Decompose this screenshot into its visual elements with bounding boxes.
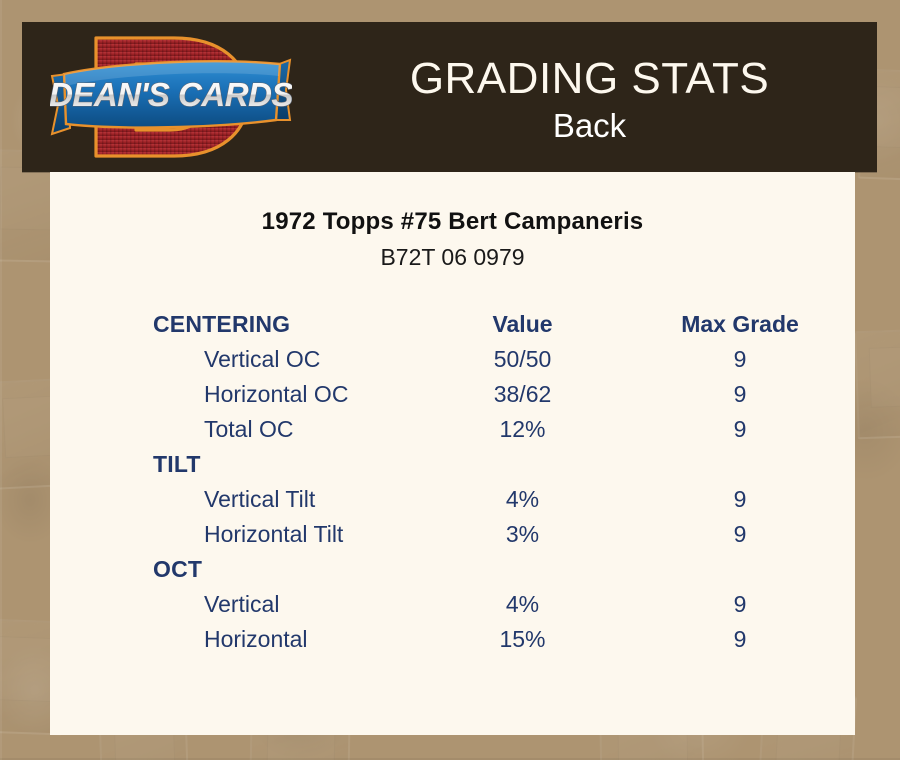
- section-label: TILT: [50, 447, 420, 482]
- stat-value: 38/62: [420, 377, 625, 412]
- stat-max-grade: 9: [625, 342, 855, 377]
- section-label: CENTERING: [50, 307, 420, 342]
- stat-value: 50/50: [420, 342, 625, 377]
- header-bar: DEAN'S CARDS GRADING STATS Back: [22, 22, 877, 172]
- stat-value: 15%: [420, 622, 625, 657]
- deans-cards-logo-icon: DEAN'S CARDS: [50, 24, 292, 170]
- stat-max-grade: 9: [625, 622, 855, 657]
- stat-label: Total OC: [50, 412, 420, 447]
- stat-value: 4%: [420, 587, 625, 622]
- stat-max-grade: 9: [625, 482, 855, 517]
- deans-cards-logo[interactable]: DEAN'S CARDS: [50, 24, 292, 170]
- grading-stats-table: CENTERINGValueMax GradeVertical OC50/509…: [50, 307, 855, 657]
- column-header-max-grade: Max Grade: [625, 307, 855, 342]
- card-serial-number: B72T 06 0979: [50, 244, 855, 271]
- header-title-block: GRADING STATS Back: [302, 22, 877, 172]
- stat-label: Vertical OC: [50, 342, 420, 377]
- section-header-row: OCT: [50, 552, 855, 587]
- stat-max-grade: 9: [625, 587, 855, 622]
- stat-value: 3%: [420, 517, 625, 552]
- section-header-row: CENTERINGValueMax Grade: [50, 307, 855, 342]
- stat-value: 4%: [420, 482, 625, 517]
- section-header-row: TILT: [50, 447, 855, 482]
- stat-label: Vertical Tilt: [50, 482, 420, 517]
- column-header-value: Value: [420, 307, 625, 342]
- stat-label: Horizontal OC: [50, 377, 420, 412]
- table-row: Total OC12%9: [50, 412, 855, 447]
- table-row: Vertical Tilt4%9: [50, 482, 855, 517]
- stat-max-grade: 9: [625, 412, 855, 447]
- page-title: GRADING STATS: [410, 54, 769, 104]
- page-subtitle: Back: [553, 106, 626, 146]
- stat-label: Vertical: [50, 587, 420, 622]
- stat-value: 12%: [420, 412, 625, 447]
- table-row: Vertical4%9: [50, 587, 855, 622]
- table-row: Horizontal OC38/629: [50, 377, 855, 412]
- table-row: Vertical OC50/509: [50, 342, 855, 377]
- logo-ribbon-text: DEAN'S CARDS: [50, 76, 292, 113]
- table-row: Horizontal15%9: [50, 622, 855, 657]
- grading-stats-page: DEAN'S CARDS GRADING STATS Back 1972 Top…: [0, 0, 900, 760]
- section-label: OCT: [50, 552, 420, 587]
- stat-max-grade: 9: [625, 517, 855, 552]
- stat-max-grade: 9: [625, 377, 855, 412]
- stat-label: Horizontal: [50, 622, 420, 657]
- table-row: Horizontal Tilt3%9: [50, 517, 855, 552]
- stat-label: Horizontal Tilt: [50, 517, 420, 552]
- grading-stats-body: CENTERINGValueMax GradeVertical OC50/509…: [50, 307, 855, 657]
- content-panel: 1972 Topps #75 Bert Campaneris B72T 06 0…: [50, 172, 855, 735]
- card-title: 1972 Topps #75 Bert Campaneris: [50, 208, 855, 236]
